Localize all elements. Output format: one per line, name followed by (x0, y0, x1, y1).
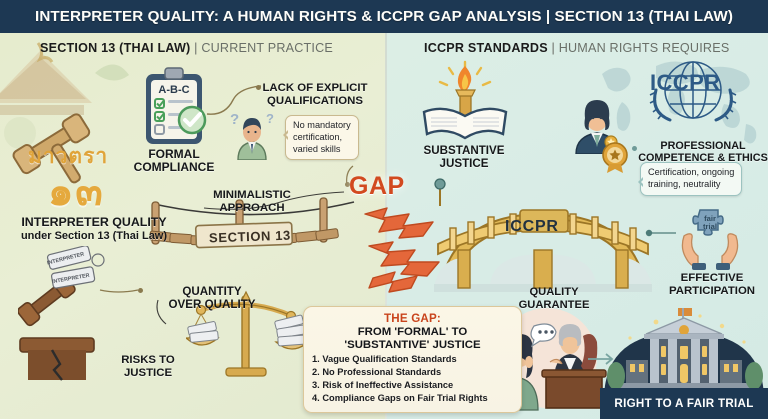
torch-and-book-icon (418, 56, 512, 146)
clipboard-checklist-icon: A-B-C (140, 66, 208, 148)
right-to-fair-trial-banner: RIGHT TO A FAIR TRIAL (600, 388, 768, 419)
substantive-justice-label: SUBSTANTIVE JUSTICE (409, 144, 519, 170)
gap-arrows-illustration (363, 202, 473, 294)
right-to-fair-trial-label: RIGHT TO A FAIR TRIAL (614, 397, 753, 410)
professional-competence-label: PROFESSIONAL COMPETENCE & ETHICS (638, 140, 768, 164)
gap-item: 3. Risk of Ineffective Assistance (312, 379, 513, 391)
gap-box-subtitle: FROM 'FORMAL' TO 'SUBSTANTIVE' JUSTICE (312, 326, 513, 352)
arrow-to-courthouse-icon (588, 352, 620, 366)
callout-certification-training: Certification, ongoing training, neutral… (640, 162, 742, 196)
page-title: INTERPRETER QUALITY: A HUMAN RIGHTS & IC… (35, 8, 733, 25)
right-section-strong: ICCPR STANDARDS (424, 41, 548, 55)
connector-line-participation (644, 226, 680, 240)
callout-no-mandatory-certification: No mandatory certification, varied skill… (285, 115, 359, 160)
right-section-sep: | (548, 41, 559, 55)
right-section-header: ICCPR STANDARDS | HUMAN RIGHTS REQUIRES (424, 41, 729, 55)
certification-badge-icon (598, 140, 632, 174)
left-section-sep: | (190, 41, 201, 55)
section-13-bridge-sign: SECTION 13 (209, 228, 291, 246)
effective-participation-label: EFFECTIVE PARTICIPATION (654, 272, 768, 298)
infographic-canvas: INTERPRETER QUALITY: A HUMAN RIGHTS & IC… (0, 0, 768, 419)
lack-of-qualifications-label: LACK OF EXPLICIT QUALIFICATIONS (250, 82, 380, 108)
courthouse-illustration (604, 304, 764, 400)
iccpr-emblem-label: ICCPR (650, 70, 720, 96)
gap-item: 1. Vague Qualification Standards (312, 353, 513, 365)
risks-to-justice-label: RISKS TO JUSTICE (106, 354, 190, 380)
gap-box-title: THE GAP: (312, 312, 513, 325)
svg-text:?: ? (266, 111, 274, 126)
connector-dot-competence (632, 146, 637, 151)
interpreter-quality-title-line2: under Section 13 (Thai Law) (4, 230, 184, 242)
gap-word-label: GAP (349, 172, 405, 201)
left-section-rest: CURRENT PRACTICE (201, 41, 333, 55)
connector-dot-quantity (138, 288, 143, 293)
left-section-header: SECTION 13 (THAI LAW) | CURRENT PRACTICE (40, 41, 333, 55)
formal-compliance-label: FORMAL COMPLIANCE (128, 148, 220, 175)
gap-summary-box: THE GAP: FROM 'FORMAL' TO 'SUBSTANTIVE' … (303, 306, 522, 413)
header-bar: INTERPRETER QUALITY: A HUMAN RIGHTS & IC… (0, 0, 768, 33)
gap-item: 4. Compliance Gaps on Fair Trial Rights (312, 392, 513, 404)
thai-number-label: ๑๓ (48, 159, 105, 223)
clipboard-text: A-B-C (158, 84, 189, 96)
left-section-strong: SECTION 13 (THAI LAW) (40, 41, 190, 55)
connector-dot-qualifications (256, 85, 261, 90)
right-section-rest: HUMAN RIGHTS REQUIRES (559, 41, 730, 55)
quantity-over-quality-label: QUANTITY OVER QUALITY (146, 285, 278, 311)
puzzle-fair-trial-text: fair trial (693, 215, 727, 232)
minimalistic-approach-label: MINIMALISTIC APPROACH (192, 189, 312, 215)
interpreter-quality-title-line1: INTERPRETER QUALITY (4, 216, 184, 230)
gap-item: 2. No Professional Standards (312, 366, 513, 378)
iccpr-bridge-label: ICCPR (505, 218, 559, 236)
